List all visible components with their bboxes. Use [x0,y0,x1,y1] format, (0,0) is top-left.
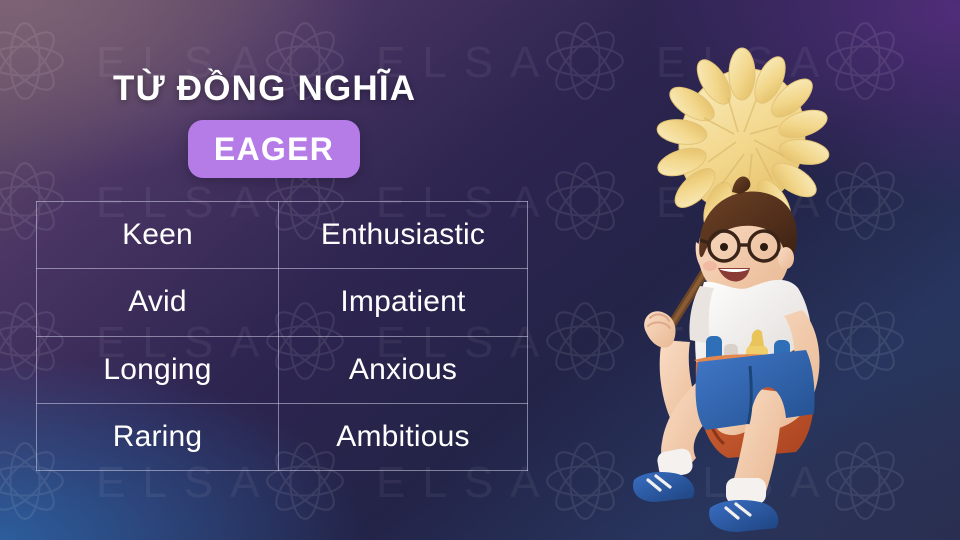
slide-canvas: ELSAELSAELSAELSAELSAELSAELSAELSAELSAELSA… [0,0,960,540]
synonyms-table-body: KeenEnthusiasticAvidImpatientLongingAnxi… [37,202,528,471]
synonym-cell-left: Raring [37,403,279,470]
synonym-cell-right: Impatient [279,269,528,336]
synonym-cell-left: Longing [37,336,279,403]
boy-with-feather-duster-illustration [600,10,960,540]
keyword-badge: EAGER [188,120,360,178]
synonym-cell-right: Anxious [279,336,528,403]
page-title: TỪ ĐỒNG NGHĨA [113,69,416,109]
table-row: LongingAnxious [37,336,528,403]
table-row: RaringAmbitious [37,403,528,470]
synonym-cell-right: Ambitious [279,403,528,470]
synonyms-table: KeenEnthusiasticAvidImpatientLongingAnxi… [36,201,528,471]
synonym-cell-left: Avid [37,269,279,336]
synonym-cell-left: Keen [37,202,279,269]
table-row: KeenEnthusiastic [37,202,528,269]
table-row: AvidImpatient [37,269,528,336]
elsa-star-logo-icon [0,18,68,104]
synonym-cell-right: Enthusiastic [279,202,528,269]
keyword-badge-label: EAGER [214,131,334,168]
